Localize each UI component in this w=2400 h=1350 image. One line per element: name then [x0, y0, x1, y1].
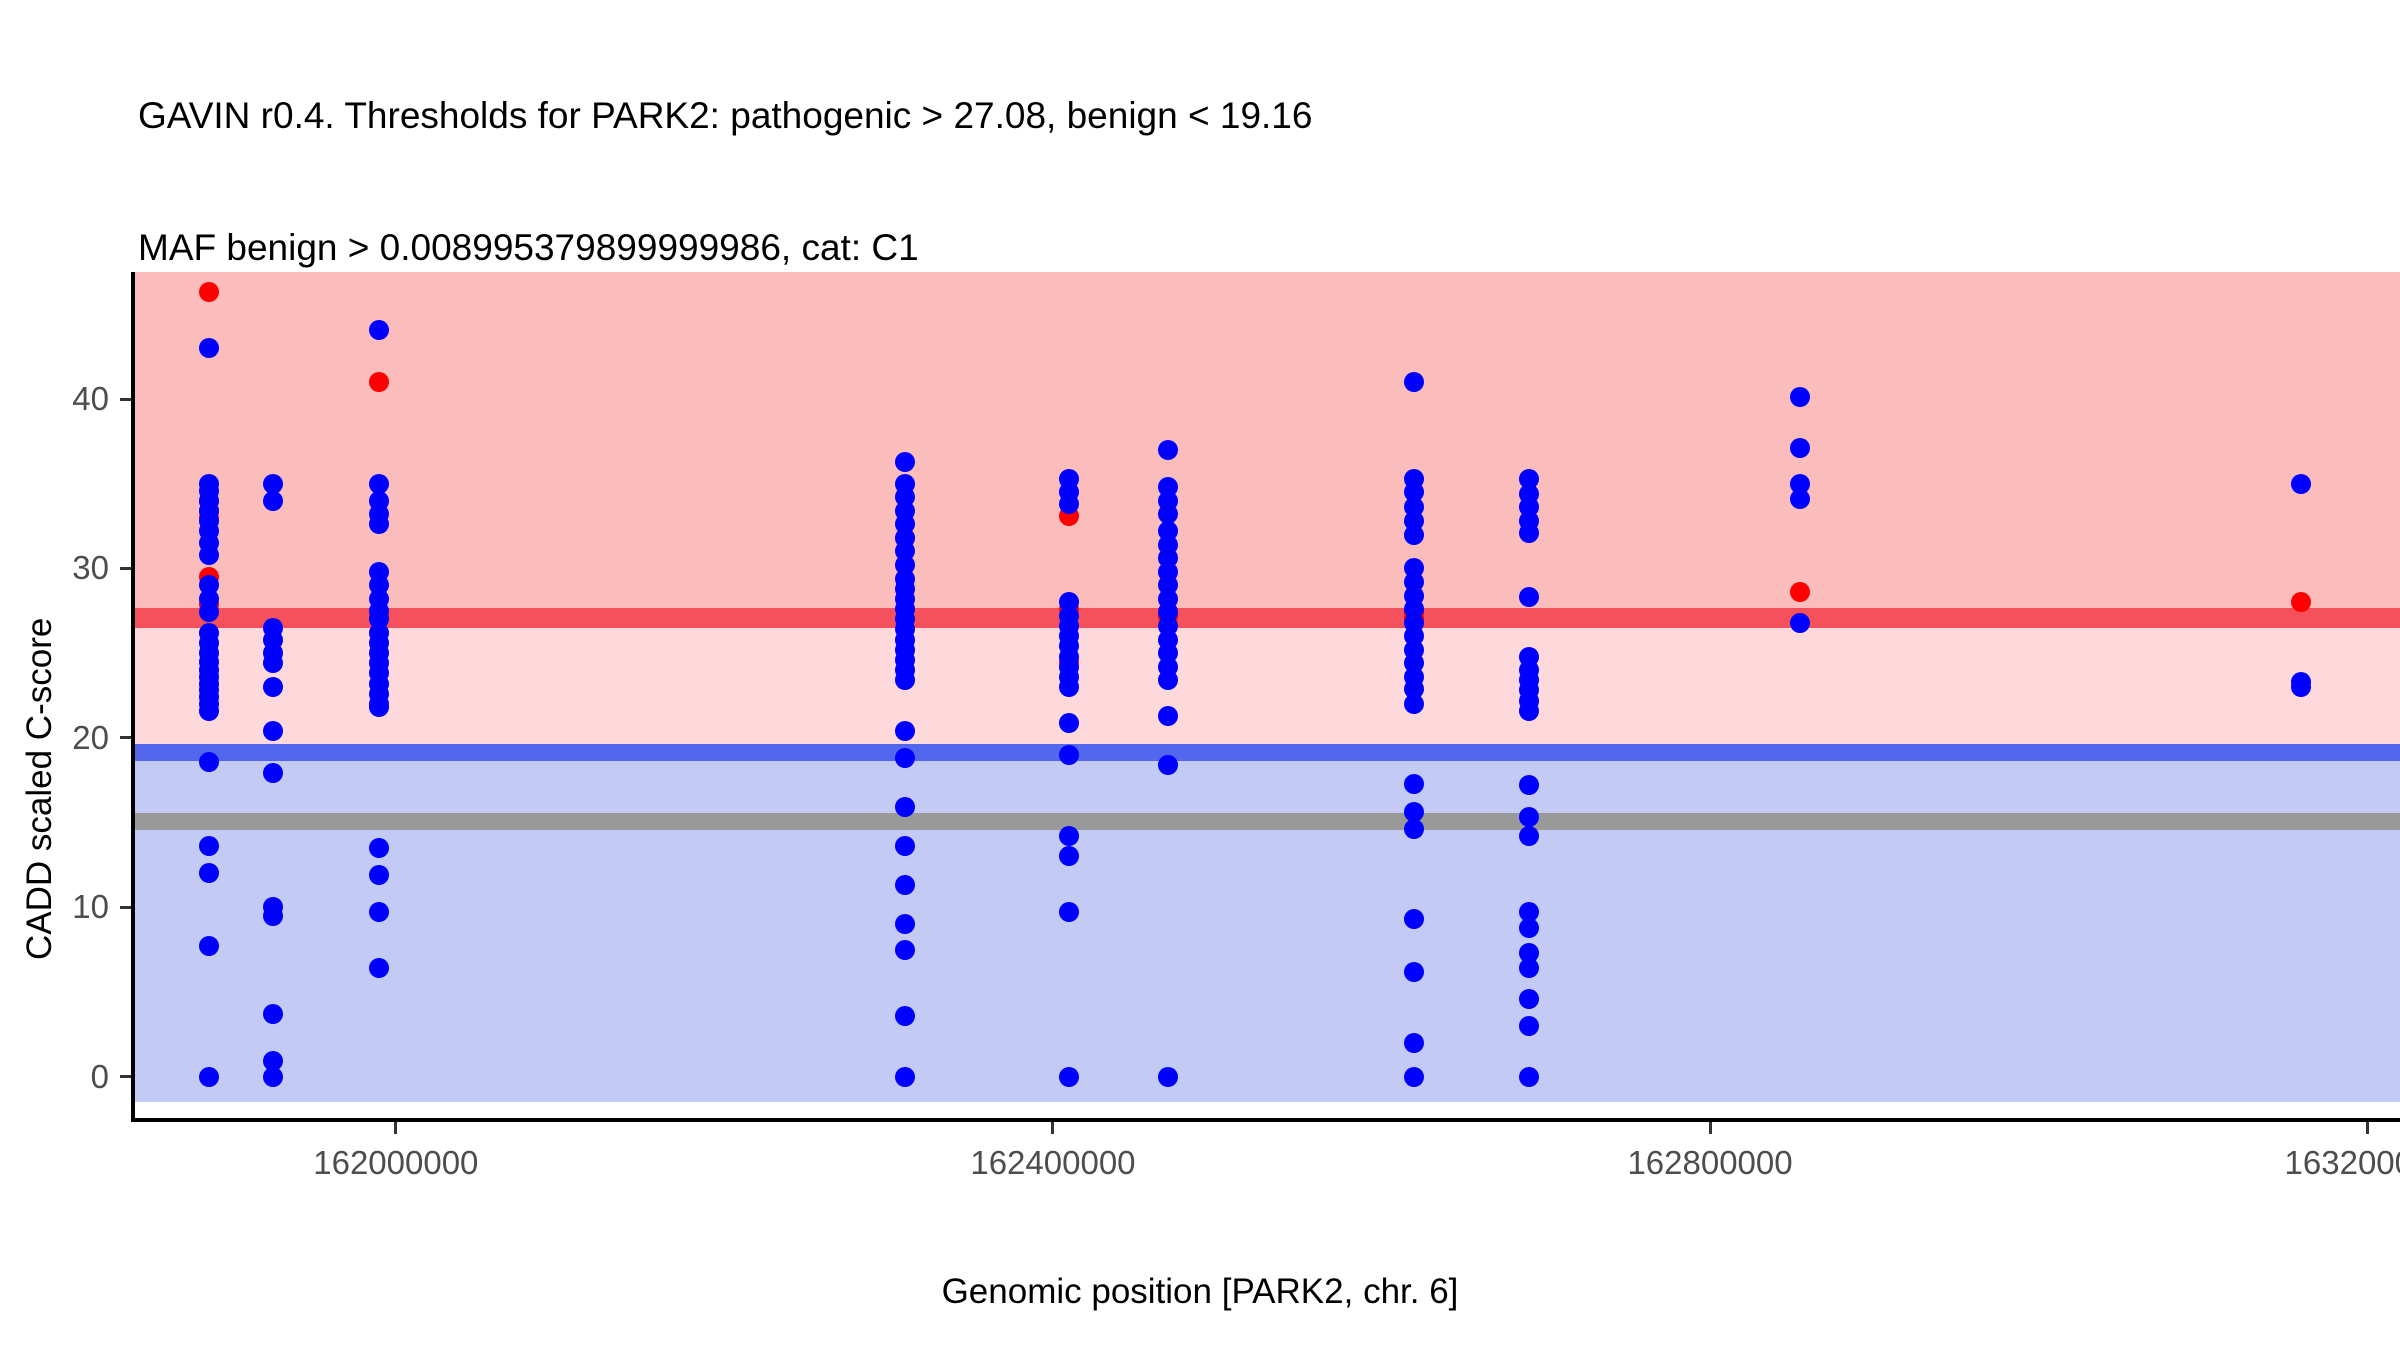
gnomad-point [1519, 701, 1539, 721]
clinvar-point [199, 282, 219, 302]
gnomad-point [1790, 613, 1810, 633]
gnomad-point [369, 514, 389, 534]
gnomad-point [1059, 494, 1079, 514]
band-pathogenic [133, 272, 2400, 618]
benign-threshold-line [133, 744, 2400, 761]
gnomad-point [1519, 958, 1539, 978]
gnomad-point [369, 865, 389, 885]
x-tick-mark [394, 1122, 397, 1134]
gnomad-point [263, 653, 283, 673]
gnomad-point [1404, 962, 1424, 982]
gavin-cadd-scatter-figure: GAVIN r0.4. Thresholds for PARK2: pathog… [0, 0, 2400, 1350]
y-tick-label: 30 [0, 551, 109, 584]
gnomad-point [1059, 677, 1079, 697]
gnomad-point [1404, 372, 1424, 392]
gnomad-point [1519, 1067, 1539, 1087]
gnomad-point [1059, 713, 1079, 733]
gnomad-point [895, 875, 915, 895]
gnomad-point [1059, 1067, 1079, 1087]
gnomad-point [199, 602, 219, 622]
gnomad-point [199, 545, 219, 565]
y-tick-label: 0 [0, 1060, 109, 1093]
title-line-1: GAVIN r0.4. Thresholds for PARK2: pathog… [138, 94, 2318, 138]
gnomad-point [369, 697, 389, 717]
gnomad-point [1158, 670, 1178, 690]
gnomad-point [1059, 826, 1079, 846]
gnomad-point [1519, 826, 1539, 846]
gnomad-point [1158, 1067, 1178, 1087]
y-axis-label: CADD scaled C-score [20, 618, 60, 960]
gnomad-point [1404, 819, 1424, 839]
gnomad-point [895, 1067, 915, 1087]
gnomad-point [199, 701, 219, 721]
gnomad-point [199, 936, 219, 956]
x-tick-label: 162000000 [313, 1146, 478, 1179]
x-tick-label: 162400000 [970, 1146, 1135, 1179]
gnomad-point [263, 763, 283, 783]
gnomad-point [369, 902, 389, 922]
y-axis-line [131, 272, 135, 1120]
fallback-threshold-line [133, 813, 2400, 830]
gnomad-point [895, 452, 915, 472]
gnomad-point [895, 748, 915, 768]
gnomad-point [1790, 438, 1810, 458]
gnomad-point [1059, 745, 1079, 765]
band-benign [133, 752, 2400, 1102]
y-tick-mark [120, 736, 131, 739]
y-tick-mark [120, 567, 131, 570]
gnomad-point [1059, 846, 1079, 866]
gnomad-point [263, 677, 283, 697]
gnomad-point [263, 1004, 283, 1024]
gnomad-point [1404, 525, 1424, 545]
gnomad-point [369, 838, 389, 858]
x-tick-label: 162800000 [1627, 1146, 1792, 1179]
gnomad-point [895, 721, 915, 741]
gnomad-point [1790, 387, 1810, 407]
gnomad-point [1158, 706, 1178, 726]
gnomad-point [263, 491, 283, 511]
gnomad-point [1519, 807, 1539, 827]
gnomad-point [263, 721, 283, 741]
gnomad-point [1404, 1067, 1424, 1087]
gnomad-point [1404, 909, 1424, 929]
gnomad-point [895, 836, 915, 856]
y-tick-label: 40 [0, 382, 109, 415]
gnomad-point [1404, 774, 1424, 794]
title-line-2: MAF benign > 0.008995379899999986, cat: … [138, 226, 2318, 270]
gnomad-point [1519, 989, 1539, 1009]
gnomad-point [1404, 1033, 1424, 1053]
gnomad-point [263, 1067, 283, 1087]
gnomad-point [1519, 587, 1539, 607]
x-axis-line [131, 1118, 2400, 1122]
gnomad-point [895, 914, 915, 934]
gnomad-point [199, 752, 219, 772]
gnomad-point [895, 670, 915, 690]
gnomad-point [895, 797, 915, 817]
clinvar-point [1790, 582, 1810, 602]
x-axis-label: Genomic position [PARK2, chr. 6] [0, 1272, 2400, 1312]
gnomad-point [1519, 1016, 1539, 1036]
gnomad-point [1158, 755, 1178, 775]
gnomad-point [1404, 694, 1424, 714]
gnomad-point [2291, 474, 2311, 494]
x-tick-mark [1709, 1122, 1712, 1134]
gnomad-point [1519, 523, 1539, 543]
x-tick-mark [2366, 1122, 2369, 1134]
gnomad-point [199, 338, 219, 358]
gnomad-point [369, 958, 389, 978]
gnomad-point [199, 836, 219, 856]
clinvar-point [2291, 592, 2311, 612]
band-intermediate [133, 618, 2400, 752]
gnomad-point [895, 940, 915, 960]
gnomad-point [895, 1006, 915, 1026]
x-tick-mark [1051, 1122, 1054, 1134]
gnomad-point [199, 1067, 219, 1087]
gnomad-point [1158, 440, 1178, 460]
y-tick-mark [120, 1075, 131, 1078]
y-tick-mark [120, 398, 131, 401]
gnomad-point [369, 320, 389, 340]
gnomad-point [1519, 918, 1539, 938]
clinvar-point [369, 372, 389, 392]
gnomad-point [263, 906, 283, 926]
x-tick-label: 163200000 [2285, 1146, 2400, 1179]
y-tick-mark [120, 906, 131, 909]
plot-panel [133, 272, 2400, 1102]
gnomad-point [1059, 902, 1079, 922]
pathogenic-threshold-line [133, 608, 2400, 628]
gnomad-point [1790, 489, 1810, 509]
gnomad-point [1519, 775, 1539, 795]
gnomad-point [199, 863, 219, 883]
gnomad-point [2291, 677, 2311, 697]
